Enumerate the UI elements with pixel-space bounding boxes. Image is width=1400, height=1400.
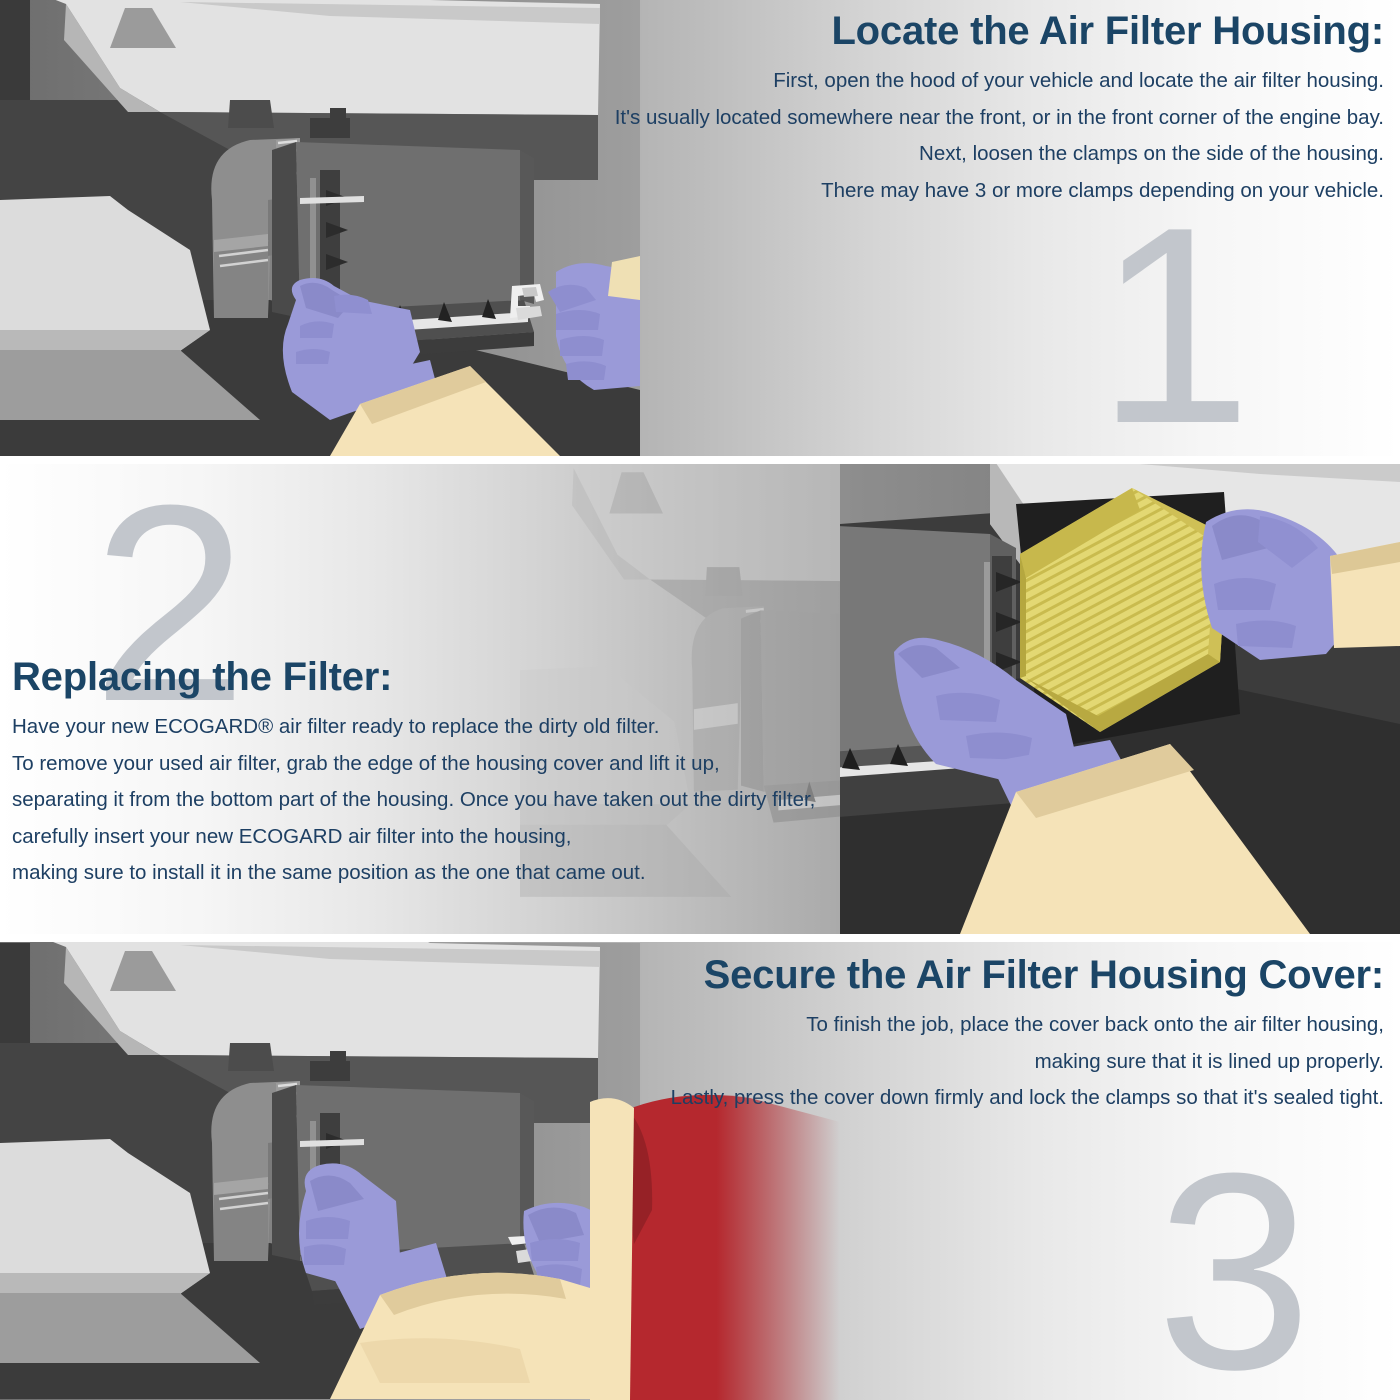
panel-3-illustration bbox=[0, 942, 640, 1400]
panel-2-line-3: separating it from the bottom part of th… bbox=[12, 782, 912, 818]
panel-3-heading: Secure the Air Filter Housing Cover: bbox=[564, 954, 1384, 997]
panel-divider-2 bbox=[0, 934, 1400, 942]
panel-3-text: Secure the Air Filter Housing Cover: To … bbox=[564, 954, 1384, 1117]
panel-2-line-5: making sure to install it in the same po… bbox=[12, 855, 912, 891]
panel-1-illustration bbox=[0, 0, 640, 456]
step-number-1: 1 bbox=[1096, 186, 1252, 456]
panel-1-line-2: It's usually located somewhere near the … bbox=[564, 100, 1384, 136]
panel-1-line-4: There may have 3 or more clamps dependin… bbox=[564, 173, 1384, 209]
step-panel-3: 3 Secure the Air Filter Housing Cover: T… bbox=[0, 942, 1400, 1400]
panel-2-line-2: To remove your used air filter, grab the… bbox=[12, 746, 912, 782]
panel-1-line-3: Next, loosen the clamps on the side of t… bbox=[564, 136, 1384, 172]
step-panel-2: 2 Replacing the Filter: Have your new EC… bbox=[0, 464, 1400, 934]
panel-2-text: Replacing the Filter: Have your new ECOG… bbox=[12, 656, 912, 892]
panel-3-line-2: making sure that it is lined up properly… bbox=[564, 1044, 1384, 1080]
step-panel-1: 1 Locate the Air Filter Housing: First, … bbox=[0, 0, 1400, 456]
panel-3-line-1: To finish the job, place the cover back … bbox=[564, 1007, 1384, 1043]
panel-1-text: Locate the Air Filter Housing: First, op… bbox=[564, 10, 1384, 209]
panel-divider-1 bbox=[0, 456, 1400, 464]
panel-2-illustration bbox=[840, 464, 1400, 934]
panel-1-heading: Locate the Air Filter Housing: bbox=[564, 10, 1384, 53]
panel-2-line-1: Have your new ECOGARD® air filter ready … bbox=[12, 709, 912, 745]
air-filter-instructions-infographic: 1 Locate the Air Filter Housing: First, … bbox=[0, 0, 1400, 1400]
step-number-3: 3 bbox=[1156, 1132, 1312, 1400]
panel-2-heading: Replacing the Filter: bbox=[12, 656, 912, 699]
panel-1-line-1: First, open the hood of your vehicle and… bbox=[564, 63, 1384, 99]
panel-3-line-3: Lastly, press the cover down firmly and … bbox=[564, 1080, 1384, 1116]
panel-2-line-4: carefully insert your new ECOGARD air fi… bbox=[12, 819, 912, 855]
